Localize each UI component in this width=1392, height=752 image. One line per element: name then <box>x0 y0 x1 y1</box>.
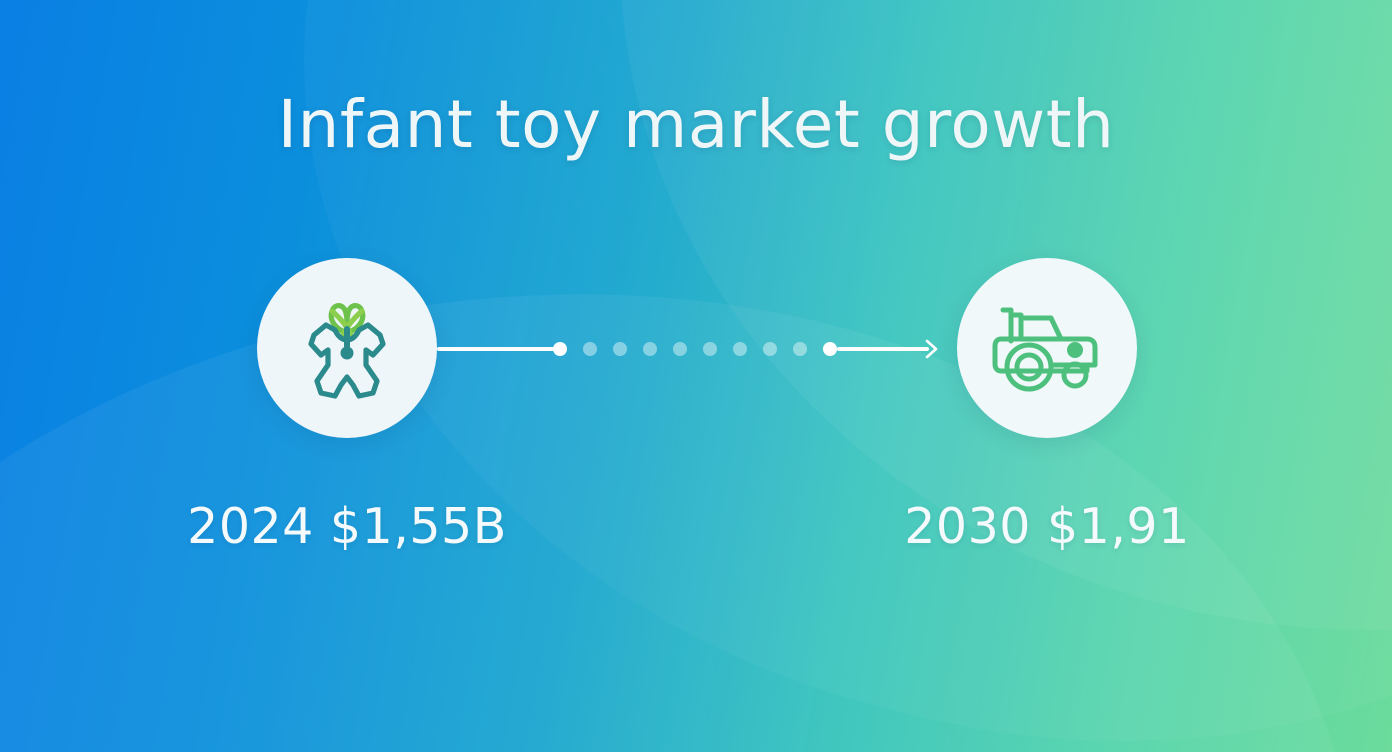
value-labels: 2024 $1,55B 2030 $1,91 <box>0 498 1392 568</box>
connector-dot <box>763 342 777 356</box>
connector-dot <box>703 342 717 356</box>
infographic-canvas: Infant toy market growth <box>0 0 1392 752</box>
connector-dot <box>643 342 657 356</box>
connector-line-left <box>437 347 565 351</box>
connector-dot <box>823 342 837 356</box>
connector <box>437 341 957 357</box>
growth-timeline <box>0 258 1392 440</box>
connector-line-right <box>837 347 929 351</box>
connector-dot <box>673 342 687 356</box>
page-title: Infant toy market growth <box>0 86 1392 163</box>
connector-dot <box>793 342 807 356</box>
label-end-value: 2030 $1,91 <box>837 498 1257 555</box>
label-start-value: 2024 $1,55B <box>137 498 557 555</box>
node-end-2030[interactable] <box>957 258 1137 438</box>
connector-dot <box>553 342 567 356</box>
connector-dot <box>733 342 747 356</box>
toy-car-icon <box>991 301 1103 395</box>
node-start-2024[interactable] <box>257 258 437 438</box>
connector-dot <box>583 342 597 356</box>
baby-onesie-icon <box>299 293 395 403</box>
arrow-right-icon <box>919 337 943 361</box>
connector-dot <box>613 342 627 356</box>
